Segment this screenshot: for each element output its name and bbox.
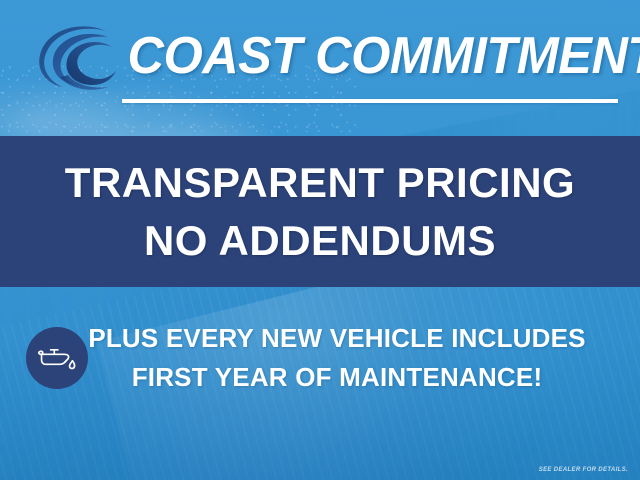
coast-wave-logo-icon [26,17,118,97]
promo-line1: PLUS EVERY NEW VEHICLE INCLUDES [88,325,585,351]
page-title: COAST COMMITMENT [128,20,613,92]
promo-section: PLUS EVERY NEW VEHICLE INCLUDES FIRST YE… [0,287,640,480]
pricing-headline-line2: NO ADDENDUMS [144,220,496,262]
promo-content: PLUS EVERY NEW VEHICLE INCLUDES FIRST YE… [0,325,640,390]
banner-header: COAST COMMITMENT [0,0,640,136]
header-divider [122,99,618,103]
pricing-headline-line1: TRANSPARENT PRICING [65,162,575,204]
coast-commitment-banner: COAST COMMITMENT TRANSPARENT PRICING NO … [0,0,640,480]
promo-line2: FIRST YEAR OF MAINTENANCE! [132,364,543,390]
pricing-band: TRANSPARENT PRICING NO ADDENDUMS [0,136,640,287]
promo-text-block: PLUS EVERY NEW VEHICLE INCLUDES FIRST YE… [104,325,570,390]
oil-can-icon [26,327,88,389]
disclaimer-text: SEE DEALER FOR DETAILS. [539,467,628,473]
